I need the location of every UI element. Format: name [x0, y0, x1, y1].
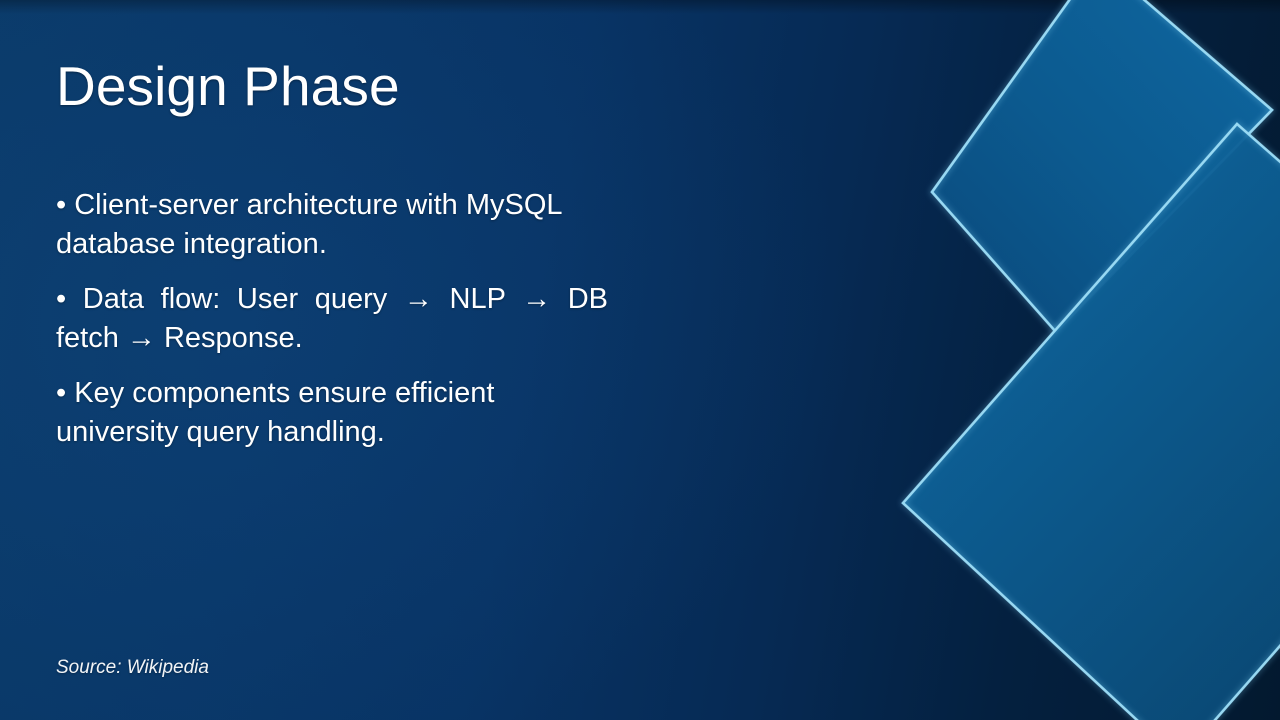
source-caption: Source: Wikipedia [56, 655, 209, 681]
list-item: • Client-server architecture with MySQL … [56, 186, 608, 264]
list-item: • Data flow: User query → NLP → DB fetch… [56, 280, 608, 358]
page-title: Design Phase [56, 56, 856, 118]
list-item: • Key components ensure efficient univer… [56, 374, 608, 452]
slide-canvas: Design Phase • Client-server architectur… [0, 0, 1280, 720]
bullet-list: • Client-server architecture with MySQL … [56, 186, 608, 452]
slide-content: Design Phase • Client-server architectur… [0, 0, 1280, 720]
